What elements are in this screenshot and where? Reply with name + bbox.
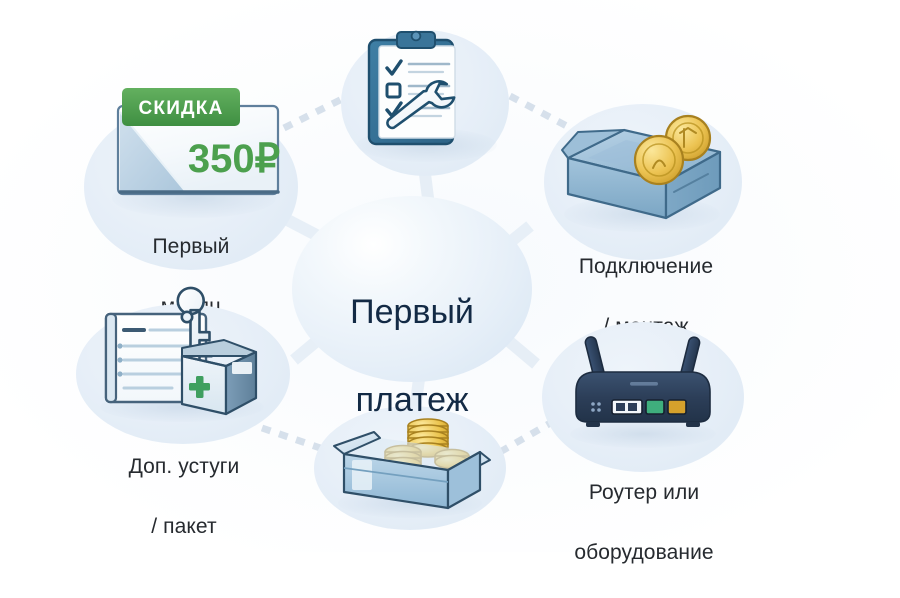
node-label-router: Роутер или оборудование <box>528 448 760 598</box>
discount-amount-text: 350₽ <box>188 137 280 181</box>
label-line-2: / пакет <box>66 512 302 542</box>
node-extra-services[interactable]: Доп. устуги / пакет <box>66 294 302 498</box>
socket-coins-icon <box>558 116 730 228</box>
discount-badge-text: СКИДКА <box>138 98 223 119</box>
node-label-extra-services: Доп. устуги / пакет <box>66 422 302 572</box>
center-title-line-2: платеж <box>292 378 532 422</box>
node-connection[interactable]: Подключение / монтаж <box>540 100 752 290</box>
node-router[interactable]: Роутер или оборудование <box>528 318 760 530</box>
node-first-month[interactable]: СКИДКА 350₽ Первый месяц <box>76 82 306 272</box>
discount-card-icon: СКИДКА 350₽ <box>112 86 288 206</box>
document-key-box-icon <box>100 300 276 426</box>
label-line-1: Роутер или <box>528 478 760 508</box>
center-hub[interactable]: Первый платеж <box>292 196 532 382</box>
center-title-line-1: Первый <box>292 290 532 334</box>
infographic-canvas: СКИДКА 350₽ Первый месяц <box>0 0 900 552</box>
clipboard-wrench-icon <box>361 30 491 158</box>
node-checklist[interactable] <box>325 22 525 182</box>
label-line-2: оборудование <box>528 538 760 568</box>
label-line-1: Первый <box>76 232 306 262</box>
label-line-1: Доп. устуги <box>66 452 302 482</box>
router-icon <box>558 326 728 452</box>
center-title: Первый платеж <box>292 246 532 466</box>
label-line-1: Подключение <box>534 252 758 282</box>
